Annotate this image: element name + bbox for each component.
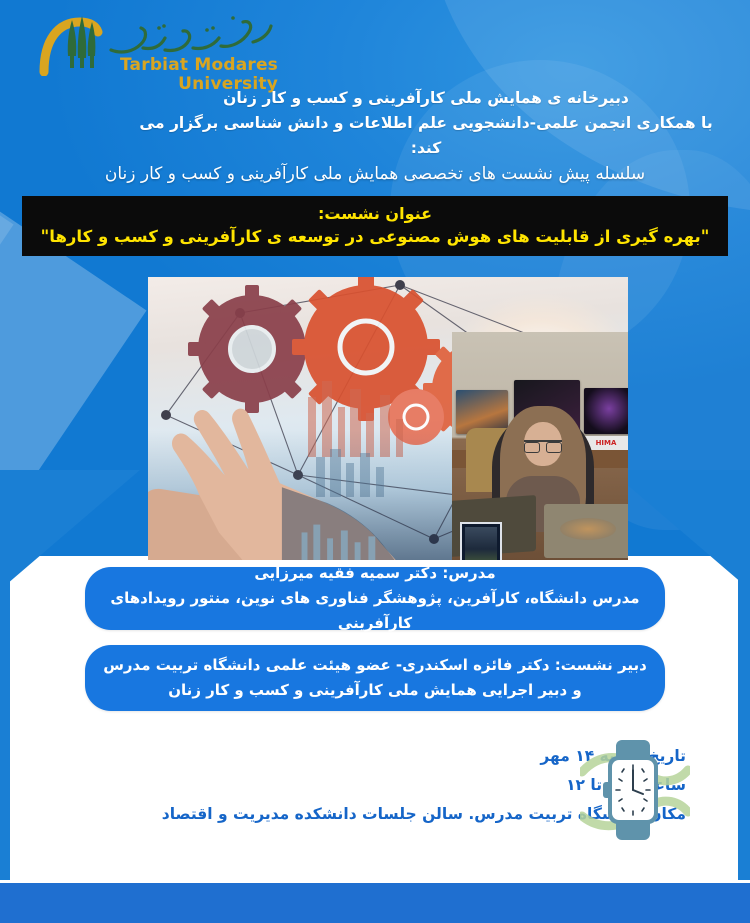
logo-english-line1: Tarbiat Modares	[120, 55, 278, 75]
monitor-right	[584, 388, 628, 434]
session-title-label: عنوان نشست:	[318, 203, 432, 225]
secretary-line-2: و دبیر اجرایی همایش ملی کارآفرینی و کسب …	[168, 678, 582, 703]
logo-emblem-cypress-icon	[38, 12, 104, 76]
laptop-right	[544, 504, 628, 558]
instructor-box: مدرس: دکتر سمیه فقیه میرزایی مدرس دانشگا…	[85, 567, 665, 630]
instructor-line-1: مدرس: دکتر سمیه فقیه میرزایی	[254, 561, 495, 586]
session-title-banner: عنوان نشست: "بهره گیری از قابلیت های هوش…	[22, 196, 728, 256]
laptop-wing-decal	[560, 518, 616, 540]
session-secretary-box: دبیر نشست: دکتر فائزه اسکندری- عضو هیئت …	[85, 645, 665, 711]
desk-photo-frame	[460, 522, 502, 560]
event-poster: Tarbiat Modares University دبیرخانه ی هم…	[0, 0, 750, 923]
session-title-text: "بهره گیری از قابلیت های هوش مصنوعی در ت…	[41, 225, 710, 249]
secretary-line-1: دبیر نشست: دکتر فائزه اسکندری- عضو هیئت …	[103, 653, 647, 678]
background-border-left	[0, 556, 10, 880]
wristwatch-icon	[580, 738, 690, 842]
header-line-1: دبیرخانه ی همایش ملی کارآفرینی و کسب و ک…	[126, 86, 726, 111]
speaker-photo: HIMA	[452, 332, 628, 560]
framed-portrait	[465, 527, 497, 560]
glasses-icon	[524, 440, 562, 451]
header-text: دبیرخانه ی همایش ملی کارآفرینی و کسب و ک…	[126, 86, 726, 161]
poster-bottom-bar	[0, 883, 750, 923]
hand-graphic	[148, 385, 494, 560]
series-subtitle: سلسله پیش نشست های تخصصی همایش ملی کارآف…	[0, 162, 750, 186]
instructor-line-2: مدرس دانشگاه، کارآفرین، پژوهشگر فناوری ه…	[85, 586, 665, 636]
background-border-right	[738, 556, 750, 880]
header-line-2: با همکاری انجمن علمی-دانشجویی علم اطلاعا…	[126, 111, 726, 161]
